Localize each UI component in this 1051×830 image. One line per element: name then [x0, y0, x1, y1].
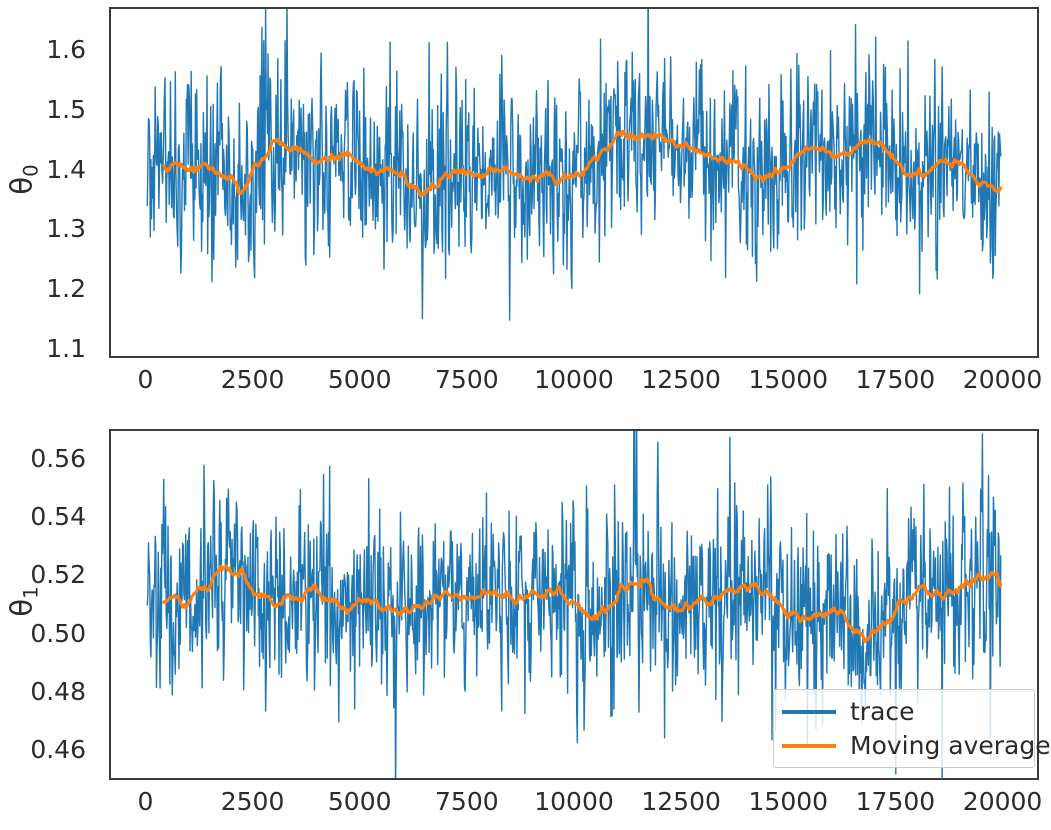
ytick-label-theta0-3: 1.4 [46, 157, 99, 182]
xtick-label-theta0-2: 5000 [328, 367, 392, 392]
ytick-label-theta0-4: 1.5 [46, 97, 99, 122]
legend: trace Moving average [773, 689, 1035, 768]
plot-area-theta0 [111, 9, 1037, 356]
ytick-label-theta1-0: 0.46 [30, 737, 99, 762]
xtick-label-theta1-3: 7500 [435, 789, 499, 814]
xtick-labels-theta0: 02500500075001000012500150001750020000 [0, 367, 1051, 397]
xtick-label-theta0-0: 0 [137, 367, 153, 392]
legend-entry-moving-average: Moving average [782, 732, 1024, 759]
xtick-label-theta1-2: 5000 [328, 789, 392, 814]
ytick-label-theta1-3: 0.52 [30, 562, 99, 587]
xtick-label-theta0-5: 12500 [641, 367, 721, 392]
legend-entry-trace: trace [782, 698, 1024, 725]
series-trace [147, 9, 1000, 320]
xtick-label-theta1-1: 2500 [221, 789, 285, 814]
xtick-label-theta0-7: 17500 [856, 367, 936, 392]
axis-label-subscript: 1 [20, 586, 43, 599]
xtick-label-theta1-4: 10000 [534, 789, 614, 814]
ytick-label-theta0-2: 1.3 [46, 216, 99, 241]
ytick-label-theta1-1: 0.48 [30, 679, 99, 704]
xtick-label-theta1-8: 20000 [963, 789, 1043, 814]
xtick-labels-theta1: 02500500075001000012500150001750020000 [0, 789, 1051, 819]
ytick-label-theta0-0: 1.1 [46, 336, 99, 361]
xtick-label-theta0-4: 10000 [534, 367, 614, 392]
legend-swatch-trace [782, 710, 836, 714]
legend-label-trace: trace [850, 699, 915, 724]
axis-label-symbol: θ [5, 176, 39, 194]
ytick-label-theta1-5: 0.56 [30, 446, 99, 471]
legend-swatch-moving-average [782, 744, 836, 748]
ytick-label-theta0-1: 1.2 [46, 276, 99, 301]
xtick-label-theta0-6: 15000 [749, 367, 829, 392]
ytick-label-theta0-5: 1.6 [46, 37, 99, 62]
xtick-label-theta0-3: 7500 [435, 367, 499, 392]
legend-label-moving-average: Moving average [850, 733, 1051, 758]
xtick-label-theta0-1: 2500 [221, 367, 285, 392]
ytick-label-theta1-2: 0.50 [30, 621, 99, 646]
ytick-label-theta1-4: 0.54 [30, 504, 99, 529]
xtick-label-theta1-5: 12500 [641, 789, 721, 814]
axis-label-symbol: θ [5, 598, 39, 616]
axis-label-subscript: 0 [20, 164, 43, 177]
xtick-label-theta0-8: 20000 [963, 367, 1043, 392]
xtick-label-theta1-6: 15000 [749, 789, 829, 814]
xtick-label-theta1-0: 0 [137, 789, 153, 814]
axis-label-theta1: θ1 [8, 579, 37, 623]
axes-theta0 [109, 7, 1039, 358]
xtick-label-theta1-7: 17500 [856, 789, 936, 814]
axis-label-theta0: θ0 [8, 157, 37, 201]
trace-plot-figure: 1.11.21.31.41.51.6 θ0 025005000750010000… [0, 0, 1051, 830]
